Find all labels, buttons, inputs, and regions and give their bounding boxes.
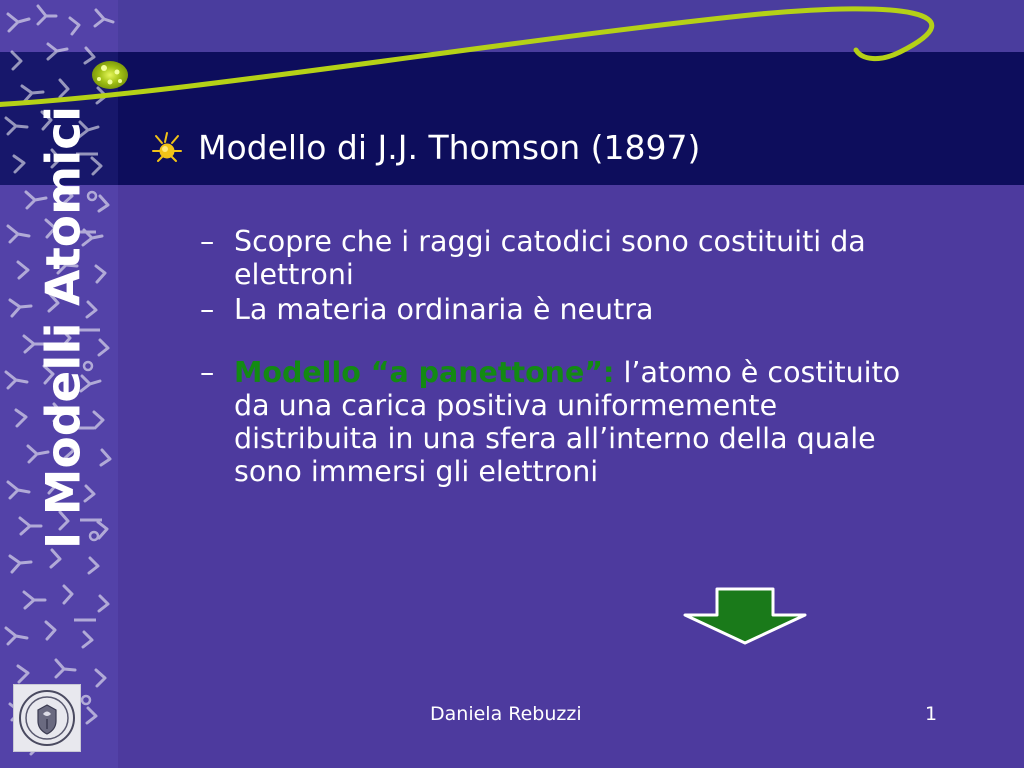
top-band [0, 0, 1024, 52]
university-crest-icon [13, 684, 81, 752]
bullet-text: La materia ordinaria è neutra [234, 293, 930, 326]
list-item: – Scopre che i raggi catodici sono costi… [200, 225, 930, 291]
bullet-text: Scopre che i raggi catodici sono costitu… [234, 225, 930, 291]
slide-body: – Scopre che i raggi catodici sono costi… [200, 225, 930, 490]
footer-page-number: 1 [925, 703, 937, 725]
slide-canvas: Modello di J.J. Thomson (1897) – Scopre … [0, 0, 1024, 768]
down-arrow-icon [681, 587, 809, 645]
footer-author: Daniela Rebuzzi [430, 703, 582, 725]
page-title: Modello di J.J. Thomson (1897) [198, 128, 700, 167]
slide-title-row: Modello di J.J. Thomson (1897) [150, 128, 700, 167]
list-item: – La materia ordinaria è neutra [200, 293, 930, 326]
sidebar-vertical-title: I Modelli Atomici [37, 28, 92, 628]
list-item: – Modello “a panettone”: l’atomo è costi… [200, 356, 930, 488]
sun-burst-icon [150, 131, 184, 165]
bullet-text: Modello “a panettone”: l’atomo è costitu… [234, 356, 930, 488]
bullet-marker: – [200, 293, 234, 326]
bullet-marker: – [200, 225, 234, 258]
bullet-marker: – [200, 356, 234, 389]
highlight-text: Modello “a panettone”: [234, 356, 614, 389]
